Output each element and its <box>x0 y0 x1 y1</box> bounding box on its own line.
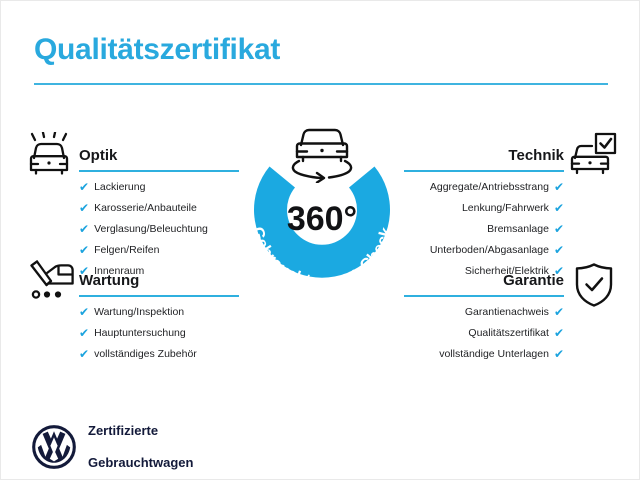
certificate-sheet: Qualitätszertifikat <box>0 0 640 480</box>
section-title-garantie: Garantie <box>404 273 564 288</box>
list-item: ✔Hauptuntersuchung <box>79 327 239 339</box>
list-item: ✔Felgen/Reifen <box>79 244 239 256</box>
list-item-label: Qualitätszertifikat <box>468 328 549 339</box>
list-item-label: Bremsanlage <box>487 224 549 235</box>
section-rule-garantie <box>404 295 564 297</box>
check-icon: ✔ <box>554 348 564 360</box>
section-garantie: Garantie Garantienachweis✔ Qualitätszert… <box>404 273 564 360</box>
check-icon: ✔ <box>554 327 564 339</box>
section-rule-optik <box>79 170 239 172</box>
volkswagen-logo-icon <box>32 425 76 469</box>
page-title: Qualitätszertifikat <box>34 33 280 67</box>
footer-brand-line2: Gebrauchtwagen <box>88 455 193 471</box>
section-technik: Technik Aggregate/Antriebsstrang✔ Lenkun… <box>404 148 564 277</box>
checklist-garantie: Garantienachweis✔ Qualitätszertifikat✔ v… <box>404 306 564 360</box>
header-divider <box>34 83 608 85</box>
list-item-label: Unterboden/Abgasanlage <box>430 245 549 256</box>
check-icon: ✔ <box>79 181 89 193</box>
check-icon: ✔ <box>79 244 89 256</box>
car-service-pen-icon <box>25 259 77 305</box>
list-item: Bremsanlage✔ <box>404 223 564 235</box>
check-icon: ✔ <box>554 244 564 256</box>
footer-brand-text: Zertifizierte Gebrauchtwagen <box>88 407 193 486</box>
badge-360-gebrauchtwagen-check: Gebrauchtwagen-Check 360° <box>229 119 415 305</box>
section-title-wartung: Wartung <box>79 273 239 288</box>
check-icon: ✔ <box>554 306 564 318</box>
list-item: Unterboden/Abgasanlage✔ <box>404 244 564 256</box>
car-rotate-360-icon <box>277 121 367 183</box>
list-item: Lenkung/Fahrwerk✔ <box>404 202 564 214</box>
list-item: ✔Lackierung <box>79 181 239 193</box>
list-item-label: Lackierung <box>94 182 145 193</box>
list-item-label: vollständige Unterlagen <box>439 349 549 360</box>
list-item-label: Verglasung/Beleuchtung <box>94 224 208 235</box>
check-icon: ✔ <box>554 202 564 214</box>
check-icon: ✔ <box>79 223 89 235</box>
list-item-label: Karosserie/Anbauteile <box>94 203 197 214</box>
check-icon: ✔ <box>79 306 89 318</box>
list-item-label: Wartung/Inspektion <box>94 307 184 318</box>
section-rule-technik <box>404 170 564 172</box>
car-shine-icon <box>25 132 73 176</box>
section-wartung: Wartung ✔Wartung/Inspektion ✔Hauptunters… <box>79 273 239 360</box>
list-item: ✔Verglasung/Beleuchtung <box>79 223 239 235</box>
list-item-label: Hauptuntersuchung <box>94 328 186 339</box>
list-item-label: Aggregate/Antriebsstrang <box>430 182 549 193</box>
check-icon: ✔ <box>79 327 89 339</box>
check-icon: ✔ <box>79 202 89 214</box>
checklist-optik: ✔Lackierung ✔Karosserie/Anbauteile ✔Verg… <box>79 181 239 277</box>
section-rule-wartung <box>79 295 239 297</box>
footer-brand-lockup: Zertifizierte Gebrauchtwagen <box>32 407 193 486</box>
list-item-label: vollständiges Zubehör <box>94 349 197 360</box>
checklist-technik: Aggregate/Antriebsstrang✔ Lenkung/Fahrwe… <box>404 181 564 277</box>
list-item: Garantienachweis✔ <box>404 306 564 318</box>
list-item: Aggregate/Antriebsstrang✔ <box>404 181 564 193</box>
checklist-wartung: ✔Wartung/Inspektion ✔Hauptuntersuchung ✔… <box>79 306 239 360</box>
list-item: Qualitätszertifikat✔ <box>404 327 564 339</box>
section-title-technik: Technik <box>404 148 564 163</box>
car-checkbox-icon <box>567 132 617 176</box>
section-optik: Optik ✔Lackierung ✔Karosserie/Anbauteile… <box>79 148 239 277</box>
check-icon: ✔ <box>79 348 89 360</box>
list-item: ✔vollständiges Zubehör <box>79 348 239 360</box>
section-title-optik: Optik <box>79 148 239 163</box>
list-item-label: Garantienachweis <box>465 307 549 318</box>
check-icon: ✔ <box>554 181 564 193</box>
list-item-label: Felgen/Reifen <box>94 245 159 256</box>
shield-check-icon <box>573 262 615 308</box>
list-item: vollständige Unterlagen✔ <box>404 348 564 360</box>
list-item: ✔Wartung/Inspektion <box>79 306 239 318</box>
list-item-label: Lenkung/Fahrwerk <box>462 203 549 214</box>
check-icon: ✔ <box>554 223 564 235</box>
footer-brand-line1: Zertifizierte <box>88 423 193 439</box>
list-item: ✔Karosserie/Anbauteile <box>79 202 239 214</box>
